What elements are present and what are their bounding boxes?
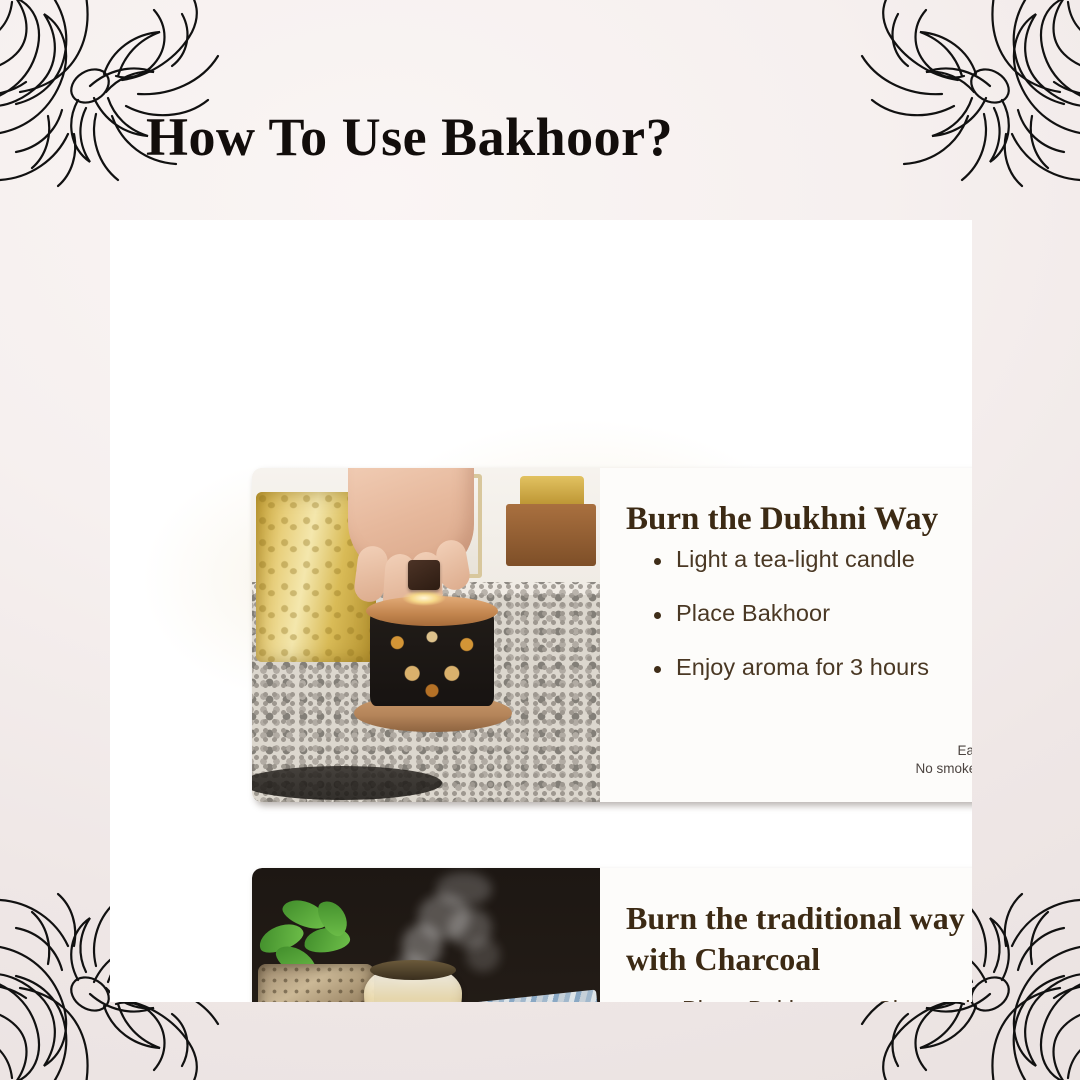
candle-glow [402, 590, 446, 606]
steps-list-dukhni: Light a tea-light candle Place Bakhoor E… [626, 546, 972, 707]
card-heading-charcoal: Burn the traditional way with Charcoal [626, 898, 972, 980]
note-line: Easy to use [626, 742, 972, 760]
list-item: Place Bakhoor on Charcoal [660, 996, 972, 1002]
content-panel: Burn the Dukhni Way Light a tea-light ca… [110, 220, 972, 1002]
list-item: Light a tea-light candle [654, 546, 972, 574]
page-title: How To Use Bakhoor? [146, 108, 673, 167]
card-body-dukhni: Burn the Dukhni Way Light a tea-light ca… [600, 468, 972, 802]
method-card-dukhni: Burn the Dukhni Way Light a tea-light ca… [252, 468, 972, 802]
photo-crystal-burner [252, 868, 600, 1002]
list-item: Place Bakhoor [654, 600, 972, 628]
wooden-box-prop [506, 504, 596, 566]
note-line: No smoke or mess [626, 760, 972, 778]
card-note-dukhni: Easy to use No smoke or mess [626, 742, 972, 792]
card-body-charcoal: Burn the traditional way with Charcoal P… [600, 868, 972, 1002]
method-card-charcoal: Burn the traditional way with Charcoal P… [252, 868, 972, 1002]
steps-list-charcoal: Place Bakhoor on Charcoal Enjoy aroma fo… [626, 996, 972, 1002]
prayer-mat-prop [471, 990, 600, 1002]
heading-line-1: Burn the traditional way [626, 900, 965, 936]
heading-line-2: with Charcoal [626, 941, 820, 977]
corner-ornament-top-right-icon [844, 0, 1080, 234]
charcoal-bowl [370, 960, 456, 980]
photo-electric-burner [252, 468, 600, 802]
list-item: Enjoy aroma for 3 hours [654, 654, 972, 682]
poster-root: How To Use Bakhoor? [0, 0, 1080, 1080]
bakhoor-chunk [408, 560, 440, 590]
card-heading-dukhni: Burn the Dukhni Way [626, 498, 972, 540]
